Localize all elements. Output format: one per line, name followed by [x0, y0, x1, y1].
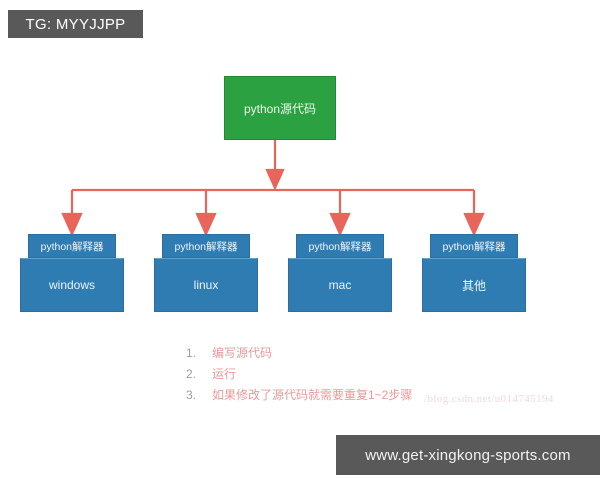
interpreter-header-label: python解释器 [442, 239, 505, 254]
csdn-watermark: /blog.csdn.net/u014745194 [424, 393, 554, 405]
interpreter-header-label: python解释器 [40, 239, 103, 254]
step-text: 编写源代码 [212, 344, 272, 361]
platform-box-mac: mac [288, 258, 392, 312]
step-number: 2. [186, 367, 212, 381]
step-number: 3. [186, 388, 212, 402]
screenshot-canvas: python源代码 python解释器 windows python解释器 li… [0, 0, 600, 480]
source-node: python源代码 [224, 76, 336, 140]
step-item: 2. 运行 [186, 365, 526, 386]
interpreter-header-windows: python解释器 [28, 234, 116, 258]
interpreter-header-other: python解释器 [430, 234, 518, 258]
telegram-handle-text: TG: MYYJJPP [26, 16, 126, 33]
interpreter-header-label: python解释器 [308, 239, 371, 254]
site-url-banner: www.get-xingkong-sports.com [336, 435, 600, 475]
interpreter-header-linux: python解释器 [162, 234, 250, 258]
interpreter-header-mac: python解释器 [296, 234, 384, 258]
step-number: 1. [186, 346, 212, 360]
step-text: 运行 [212, 365, 236, 382]
source-node-label: python源代码 [244, 100, 316, 117]
platform-box-other: 其他 [422, 258, 526, 312]
site-url-text: www.get-xingkong-sports.com [365, 447, 570, 464]
telegram-handle-badge: TG: MYYJJPP [8, 10, 143, 38]
interpreter-header-label: python解释器 [174, 239, 237, 254]
platform-box-linux: linux [154, 258, 258, 312]
platform-label: windows [49, 278, 95, 292]
step-text: 如果修改了源代码就需要重复1~2步骤 [212, 386, 412, 403]
platform-label: mac [329, 278, 352, 292]
platform-label: 其他 [462, 277, 486, 294]
platform-box-windows: windows [20, 258, 124, 312]
platform-label: linux [194, 278, 219, 292]
step-item: 1. 编写源代码 [186, 344, 526, 365]
